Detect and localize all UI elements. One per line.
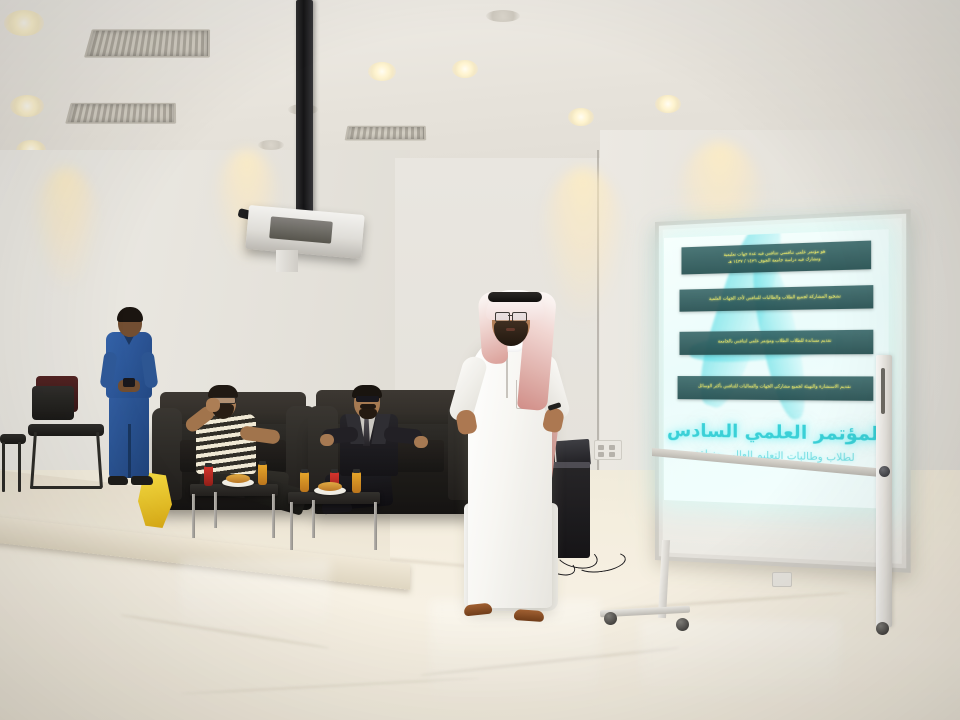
slide-bullet-band: تشجيع المشاركة لجميع الطلاب والطالبات لل…: [680, 285, 874, 312]
food-item: [318, 482, 342, 491]
whiteboard-post-slot: [881, 368, 885, 414]
sandal: [464, 603, 493, 617]
person-dark-suit: [318, 384, 438, 534]
slide-main-title: المؤتمر العلمي السادس: [664, 420, 889, 446]
igal-headband: [488, 292, 542, 302]
chair-leg-bar: [30, 486, 102, 489]
bottle-cap: [331, 469, 338, 473]
juice-bottle-orange: [258, 464, 267, 485]
juice-bottle-red: [204, 466, 213, 486]
floor-reflection: [180, 560, 330, 640]
food-item: [226, 474, 250, 483]
stacking-chair-seat: [28, 424, 104, 436]
bottle-cap: [205, 463, 212, 467]
slide-bullet-text: تقديم مساندة للطلاب الطلاب ومؤتمر علمي ل…: [714, 339, 836, 347]
whiteboard-height-knob[interactable]: [879, 466, 890, 477]
chair-leg: [2, 442, 5, 492]
floor-reflection: [640, 620, 840, 710]
bottle-cap: [353, 469, 360, 473]
ceiling-downlight: [10, 95, 44, 117]
slide-bullet-band: تقديم الاستشارة والتهيئة لجميع مشاركي ال…: [678, 376, 874, 401]
person-blue-scrubs: [98, 300, 160, 492]
ac-vent-diffuser: [345, 126, 427, 141]
ceiling-speaker-grill: [258, 140, 284, 150]
ac-vent-diffuser: [84, 29, 210, 57]
mouth: [506, 328, 515, 331]
sandal: [514, 609, 545, 622]
whiteboard-caster: [676, 618, 689, 631]
sunglasses-icon: [356, 396, 379, 402]
projector-mount-pole: [296, 0, 313, 218]
slide-bullet-text: تشجيع المشاركة لجميع الطلاب والطالبات لل…: [705, 294, 845, 304]
whiteboard-caster: [604, 612, 617, 625]
photo-scene: هو مؤتمر علمي تنافسي تتنافس فيه عدة جهات…: [0, 0, 960, 720]
right-hand: [414, 436, 428, 448]
stacking-chair-backrest: [32, 386, 74, 420]
hand-at-face: [206, 398, 220, 412]
table-leg: [272, 494, 275, 538]
whiteboard-caster: [876, 622, 889, 635]
juice-bottle-orange: [352, 472, 361, 493]
person-striped-shirt: [168, 382, 308, 532]
socket-hole: [598, 452, 604, 457]
person-presenter: [440, 288, 580, 640]
beard: [359, 409, 377, 419]
ceiling-downlight: [368, 62, 396, 81]
juice-bottle-orange: [300, 472, 309, 492]
bottle-cap: [301, 469, 308, 473]
slide-bullet-band: هو مؤتمر علمي تنافسي تتنافس فيه عدة جهات…: [681, 241, 871, 275]
table-leg: [214, 492, 217, 528]
socket-hole: [598, 445, 604, 450]
hair: [117, 307, 143, 322]
table-leg: [312, 500, 315, 538]
mobile-phone: [123, 378, 135, 387]
ceiling-downlight: [452, 60, 478, 78]
ceiling-downlight: [4, 10, 44, 36]
left-hand: [320, 434, 334, 446]
chair-leg: [18, 442, 21, 492]
slide-bullet-text: هو مؤتمر علمي تنافسي تتنافس فيه عدة جهات…: [720, 249, 830, 266]
socket-hole: [609, 452, 615, 457]
socket-hole: [609, 445, 615, 450]
pant-seam: [128, 424, 131, 478]
glasses-bridge: [508, 315, 512, 316]
table-leg: [192, 494, 195, 538]
table-leg: [374, 502, 377, 550]
bottle-cap: [259, 461, 266, 465]
ceiling-speaker-grill: [486, 10, 520, 22]
wall-power-socket: [772, 572, 792, 587]
shoe: [131, 476, 153, 485]
ceiling-downlight: [568, 108, 594, 126]
shoe: [108, 476, 128, 485]
slide-bullet-band: تقديم مساندة للطلاب الطلاب ومؤتمر علمي ل…: [680, 330, 874, 355]
ceiling-downlight: [655, 95, 681, 113]
projector-stand-below: [276, 250, 298, 272]
ac-vent-diffuser: [65, 103, 176, 124]
wall-socket-panel: [594, 440, 622, 460]
table-leg: [290, 502, 293, 550]
slide-bullet-text: تقديم الاستشارة والتهيئة لجميع مشاركي ال…: [694, 384, 855, 392]
